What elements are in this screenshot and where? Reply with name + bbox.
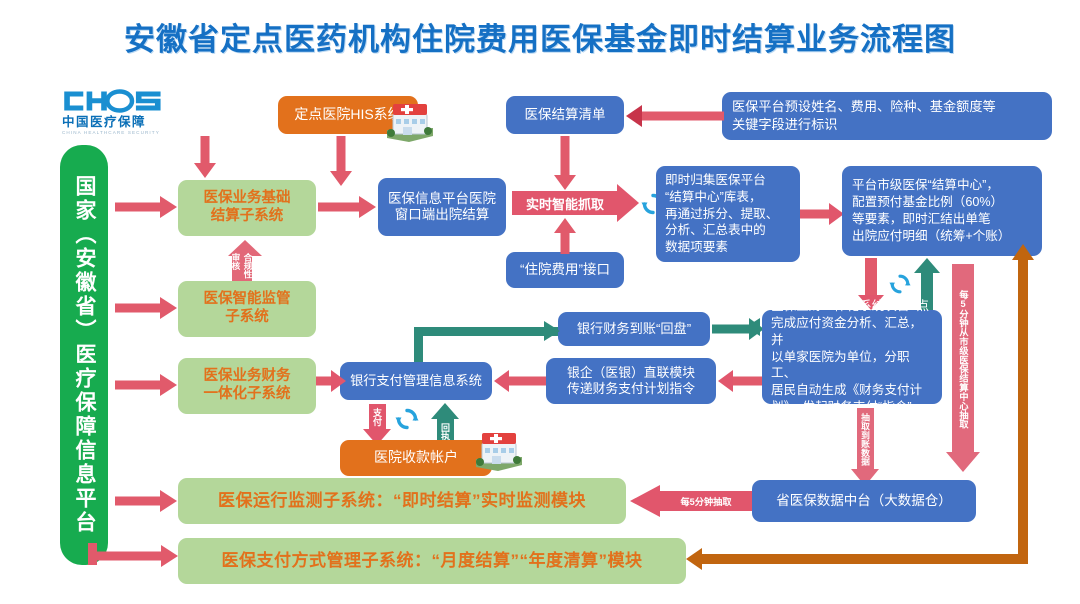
arrow-every5min-extract-head <box>630 485 660 517</box>
arrow-brown-horizontal <box>700 554 1022 564</box>
box-bank-enterprise-direct[interactable]: 银企（医银）直联模块 传递财务支付计划指令 <box>546 358 716 404</box>
box-operation-monitor-module[interactable]: 医保运行监测子系统：“即时结算”实时监测模块 <box>178 478 626 524</box>
chs-logo: 中国医疗保障 CHINA HEALTHCARE SECURITY <box>62 88 182 140</box>
arrow-sidebar-to-finance-integrated <box>115 374 177 396</box>
box-collect-settlement-center[interactable]: 即时归集医保平台 “结算中心”库表， 再通过拆分、提取、 分析、汇总表中的 数据… <box>656 166 800 262</box>
arrow-label-every5min-extract: 每5分钟抽取 <box>660 491 752 511</box>
arrow-collect-to-city-center <box>800 203 844 225</box>
box-finance-integrated-subsystem[interactable]: 医保业务财务 一体化子系统 <box>178 358 316 414</box>
arrow-label-realtime-capture: 实时智能抓取 <box>512 191 618 215</box>
arrow-compliance-review: 合规性审核 <box>232 253 252 281</box>
box-bank-finance-return[interactable]: 银行财务到账“回盘” <box>558 312 710 346</box>
arrow-brown-joint <box>1018 500 1028 510</box>
arrow-label-extract-arrival-data: 抽取到账数据 <box>857 408 874 470</box>
arrow-label-pay: 支付 <box>369 404 386 430</box>
arrow-bank-return-elbow-horizontal <box>414 327 558 336</box>
arrow-label-every5min-from-city-center: 每5分钟从市级医保结算中心抽取 <box>952 264 974 454</box>
box-next-day-7am-settlement[interactable]: 医保业财一体化系统次日7点 完成应付资金分析、汇总，并 以单家医院为单位，分职工… <box>762 310 942 404</box>
arrow-sidebar-to-basic-settle <box>115 196 177 218</box>
arrow-sidebar-to-monitor-module <box>115 490 177 512</box>
arrow-brown-up-head <box>1012 244 1034 260</box>
arrow-preset-fields-to-settle-list <box>626 105 724 127</box>
arrow-into-next-day-head <box>746 318 760 336</box>
box-city-settlement-center[interactable]: 平台市级医保“结算中心”， 配置预付基金比例（60%） 等要素，即时汇结出单笔 … <box>842 166 1042 256</box>
arrow-brown-vertical <box>1018 258 1028 564</box>
arrow-his-to-window-down <box>194 136 216 178</box>
arrow-bank-return-head <box>544 321 560 341</box>
page-title: 安徽省定点医药机构住院费用医保基金即时结算业务流程图 <box>0 14 1080 59</box>
box-inpatient-fee-api[interactable]: “住院费用”接口 <box>506 252 624 288</box>
arrow-his-down <box>330 136 352 186</box>
box-hospital-receiving-account[interactable]: 医院收款帐户 <box>340 440 492 476</box>
arrow-settle-list-down <box>554 136 576 190</box>
arrow-next-day-to-bank-direct <box>718 370 762 392</box>
box-basic-settle-subsystem[interactable]: 医保业务基础 结算子系统 <box>178 180 316 236</box>
arrow-sidebar-to-payment-module <box>88 545 178 567</box>
box-provincial-data-midplatform[interactable]: 省医保数据中台（大数据仓） <box>752 480 976 522</box>
arrow-inpatient-api-up <box>554 218 576 254</box>
chs-logo-mark <box>62 88 174 114</box>
arrow-sidebar-to-smart-supervise <box>115 297 177 319</box>
box-smart-supervise-subsystem[interactable]: 医保智能监管 子系统 <box>178 281 316 337</box>
box-preset-key-fields[interactable]: 医保平台预设姓名、费用、险种、基金额度等 关键字段进行标识 <box>722 92 1052 140</box>
arrow-finance-to-bank-pay <box>316 370 346 392</box>
chs-logo-en: CHINA HEALTHCARE SECURITY <box>62 130 182 135</box>
box-platform-window-settle[interactable]: 医保信息平台医院 窗口端出院结算 <box>378 178 506 236</box>
arrow-brown-head <box>686 548 702 570</box>
refresh-sync-icon <box>889 273 911 295</box>
box-settle-list[interactable]: 医保结算清单 <box>506 96 624 134</box>
arrow-every5min-from-city-head <box>946 452 980 472</box>
arrow-bank-direct-to-bank-pay <box>494 370 546 392</box>
hospital-building-icon <box>472 427 524 473</box>
hospital-building-icon <box>383 98 435 144</box>
arrow-bank-return-elbow-vertical <box>414 327 423 365</box>
flowchart-canvas: 安徽省定点医药机构住院费用医保基金即时结算业务流程图 中国医疗保障 CHINA … <box>0 0 1080 604</box>
refresh-sync-icon <box>395 407 419 431</box>
chs-logo-cn: 中国医疗保障 <box>62 115 182 129</box>
sidebar-platform-bar: 国家（安徽省）医疗保障信息平台 <box>60 145 108 565</box>
arrow-receipt-head <box>431 403 459 419</box>
arrow-realtime-capture-head <box>617 184 639 222</box>
arrow-basic-settle-to-window <box>318 196 376 218</box>
box-payment-method-module[interactable]: 医保支付方式管理子系统：“月度结算”“年度清算”模块 <box>178 538 686 584</box>
box-bank-payment-mgmt-system[interactable]: 银行支付管理信息系统 <box>340 362 492 400</box>
